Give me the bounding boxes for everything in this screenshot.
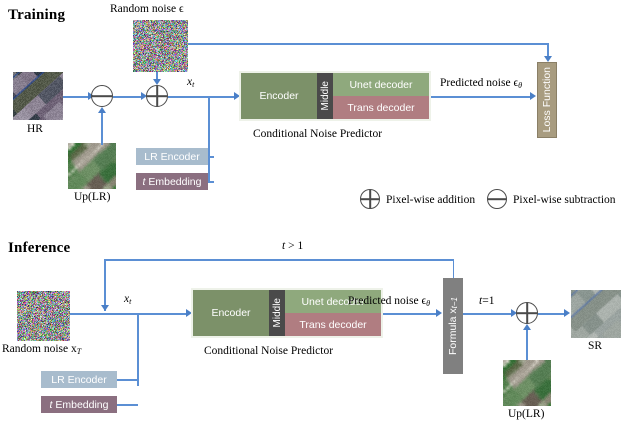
arrowhead-add-to-sr [564,309,570,317]
line-lr-encoder-join-inference [117,379,138,381]
pixelwise-addition-operator [146,85,168,107]
training-predictor-caption: Conditional Noise Predictor [253,129,382,141]
training-unet-decoder-block[interactable]: Unet decoder [333,73,429,96]
training-xt-label: xt [187,77,194,89]
inference-uplr-label: Up(LR) [508,409,544,421]
inference-trans-decoder-block[interactable]: Trans decoder [285,313,381,336]
line-conditioning-riser-inference [137,313,139,386]
inference-sr-label: SR [588,341,602,353]
line-t-embedding-join-inference [117,404,138,406]
inference-middle-block[interactable]: Middle [269,290,285,336]
line-conditioning-riser-training [208,96,210,183]
legend-subtraction-icon [487,189,507,209]
line-uplr-to-sub [101,113,103,145]
legend-addition-icon [360,189,380,209]
pixelwise-subtraction-operator [91,85,113,107]
arrowhead-predictor-to-formula [436,309,442,317]
training-hr-image [13,72,63,120]
inference-lr-encoder-box[interactable]: LR Encoder [41,371,117,388]
training-uplr-image [68,143,116,189]
line-noise-to-loss [188,43,548,45]
training-encoder-block[interactable]: Encoder [241,73,317,119]
training-trans-decoder-block[interactable]: Trans decoder [333,96,429,119]
line-uplr-to-add-inference [526,330,528,360]
line-predictor-to-loss [431,96,532,98]
line-feedback-top [104,259,454,261]
arrowhead-predictor-to-loss [530,92,536,100]
inference-encoder-block[interactable]: Encoder [193,290,269,336]
training-random-noise-image [133,20,188,72]
arrowhead-uplr-to-add-inference [523,324,531,330]
inference-xt-label: xt [124,294,131,306]
inference-sr-image [571,290,621,338]
arrowhead-uplr-to-sub [98,107,106,113]
training-t-embedding-box[interactable]: t Embedding [136,173,208,190]
inference-predicted-noise-label: Predicted noise ϵθ [348,296,430,308]
training-section-title: Training [8,7,65,24]
line-feedback-down-left [104,259,106,311]
inference-formula-box[interactable]: Formula xt−1 [443,278,463,374]
training-random-noise-label: Random noise ϵ [110,4,184,16]
inference-t-gt-1-label: t > 1 [282,241,303,253]
training-hr-label: HR [27,124,43,136]
inference-random-noise-label: Random noise xT [2,344,81,356]
line-t-embedding-join-training [208,181,214,183]
inference-predictor-caption: Conditional Noise Predictor [204,346,333,358]
arrowhead-feedback-to-xt [101,305,109,311]
line-predictor-to-formula [383,313,438,315]
inference-section-title: Inference [8,240,70,257]
legend-addition-label: Pixel-wise addition [386,194,475,206]
legend-subtraction-label: Pixel-wise subtraction [513,194,616,206]
training-lr-encoder-box[interactable]: LR Encoder [136,148,208,165]
training-middle-block[interactable]: Middle [317,73,333,119]
inference-t-eq-1-label: t=1 [479,296,494,308]
line-lr-encoder-join-training [208,156,214,158]
line-sub-to-add [113,96,142,98]
inference-pixelwise-addition-operator [516,302,538,324]
line-add-to-sr [538,313,566,315]
line-hr-to-sub [63,96,89,98]
training-uplr-label: Up(LR) [74,192,110,204]
inference-random-noise-image [17,291,70,341]
inference-t-embedding-box[interactable]: t Embedding [41,396,117,413]
arrowhead-noise-to-add [153,79,161,85]
line-noise-to-encoder-inference [70,313,188,315]
inference-uplr-image [503,360,551,406]
line-feedback-up-right [453,259,455,278]
line-formula-to-add [463,313,513,315]
training-conditional-noise-predictor[interactable]: Encoder Middle Unet decoder Trans decode… [239,71,431,121]
line-add-to-encoder [168,96,236,98]
training-loss-function-box[interactable]: Loss Function [537,62,557,138]
training-decoder-group: Unet decoder Trans decoder [333,73,429,119]
training-predicted-noise-label: Predicted noise ϵθ [440,78,522,90]
